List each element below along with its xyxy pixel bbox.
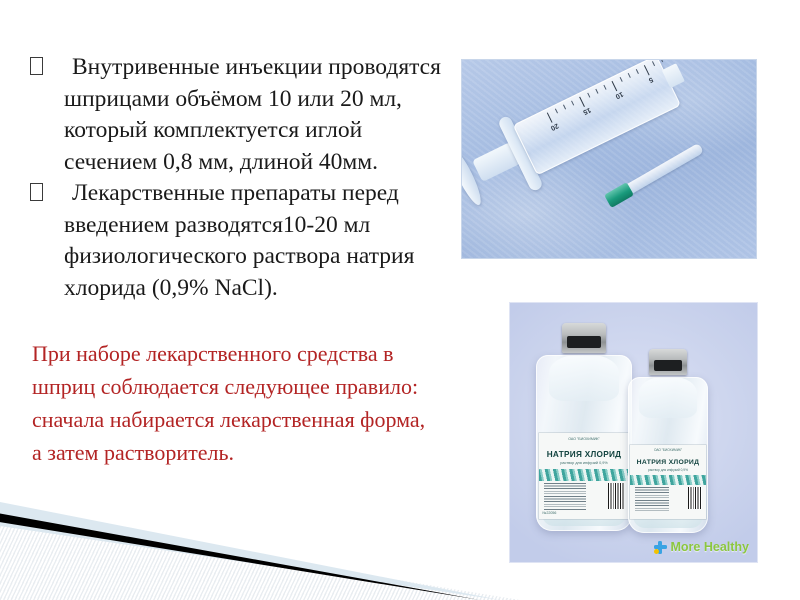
scale-label: 15: [582, 106, 592, 116]
label-manufacturer: ОАО "БИОХИМИК": [546, 437, 622, 441]
label-batch: №22056: [542, 511, 578, 515]
bottle-shoulder: [639, 377, 697, 418]
bottle-cap: [562, 323, 606, 353]
scale-label: 10: [614, 90, 624, 100]
label-subtitle: раствор для инфузий 0,9%: [636, 468, 699, 472]
watermark-text: More Healthy: [671, 540, 750, 554]
bottle-label: ОАО "БИОХИМИК" НАТРИЯ ХЛОРИД раствор для…: [630, 445, 705, 519]
bullet-marker-icon: [30, 178, 64, 210]
label-teal-stripe: [630, 475, 705, 485]
bullet-list: Внутривенные инъекции проводятся шприцам…: [30, 52, 442, 304]
cap-rubber-stopper: [567, 336, 600, 348]
bullet-text: Лекарственные препараты перед введением …: [64, 178, 442, 304]
bottle-glass: ОАО "БИОХИМИК" НАТРИЯ ХЛОРИД раствор для…: [536, 355, 632, 531]
label-title: НАТРИЯ ХЛОРИД: [546, 450, 622, 459]
label-fineprint: [544, 483, 586, 511]
note-line: а затем растворитель.: [32, 436, 452, 469]
bullet-marker-icon: [30, 52, 64, 84]
bullet-text: Внутривенные инъекции проводятся шприцам…: [64, 52, 442, 178]
watermark: More Healthy: [654, 540, 750, 554]
label-barcode: [608, 483, 624, 509]
saline-bottles-photo: ОАО "БИОХИМИК" НАТРИЯ ХЛОРИД раствор для…: [510, 303, 757, 562]
bottle-large: ОАО "БИОХИМИК" НАТРИЯ ХЛОРИД раствор для…: [536, 323, 632, 531]
list-item: Лекарственные препараты перед введением …: [30, 178, 442, 304]
note-line: сначала набирается лекарственная форма,: [32, 403, 452, 436]
syringe-photo: 20 15 10 5: [462, 60, 756, 258]
label-barcode: [688, 487, 702, 509]
note-paragraph: При наборе лекарственного средства в шпр…: [32, 337, 452, 469]
scale-label: 5: [647, 75, 654, 83]
list-item: Внутривенные инъекции проводятся шприцам…: [30, 52, 442, 178]
label-subtitle: раствор для инфузий 0,9%: [546, 461, 622, 465]
bottle-small: ОАО "БИОХИМИК" НАТРИЯ ХЛОРИД раствор для…: [628, 349, 708, 533]
watermark-dot-icon: [654, 549, 659, 554]
bottle-glass: ОАО "БИОХИМИК" НАТРИЯ ХЛОРИД раствор для…: [628, 377, 708, 533]
label-title: НАТРИЯ ХЛОРИД: [636, 459, 699, 466]
bottle-shoulder: [549, 355, 618, 401]
note-line: При наборе лекарственного средства в: [32, 337, 452, 370]
label-manufacturer: ОАО "БИОХИМИК": [636, 448, 699, 452]
slide-canvas: Внутривенные инъекции проводятся шприцам…: [0, 0, 800, 600]
scale-label: 20: [549, 122, 559, 132]
label-teal-stripe: [539, 469, 629, 481]
bottle-cap: [649, 349, 687, 375]
medical-cross-icon: [654, 541, 667, 554]
label-fineprint: [635, 487, 670, 511]
cap-rubber-stopper: [654, 360, 683, 370]
bottle-label: ОАО "БИОХИМИК" НАТРИЯ ХЛОРИД раствор для…: [539, 433, 629, 519]
note-line: шприц соблюдается следующее правило:: [32, 370, 452, 403]
